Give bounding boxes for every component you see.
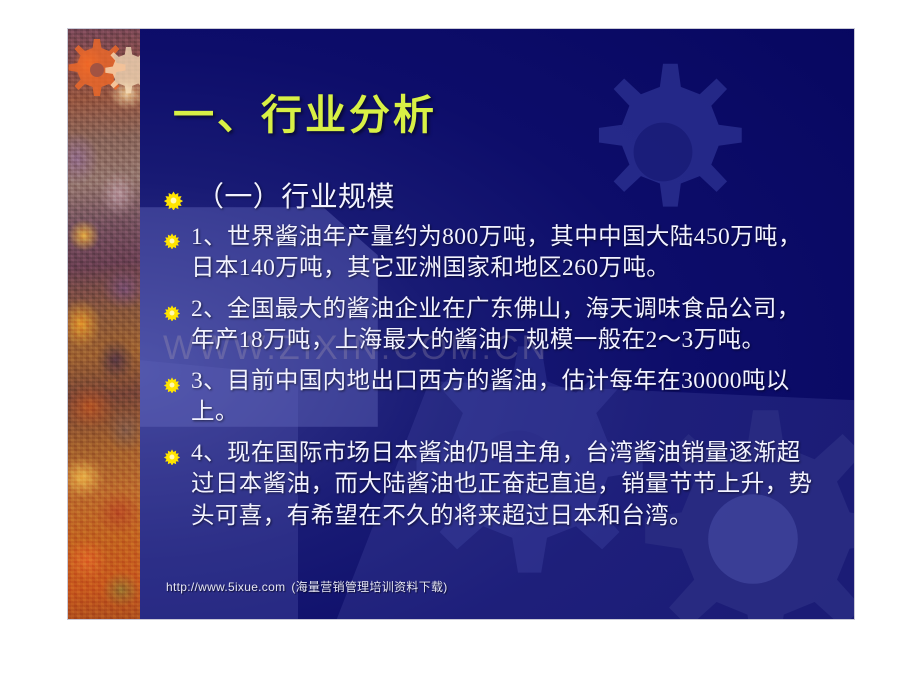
list-item: 1、世界酱油年产量约为800万吨，其中中国大陆450万吨，日本140万吨，其它亚… xyxy=(164,222,824,285)
footer: http://www.5ixue.com(海量营销管理培训资料下载) xyxy=(166,578,448,595)
list-item-text: 4、现在国际市场日本酱油仍唱主角，台湾酱油销量逐渐超过日本酱油，而大陆酱油也正奋… xyxy=(191,438,824,532)
list-item: 2、全国最大的酱油企业在广东佛山，海天调味食品公司，年产18万吨，上海最大的酱油… xyxy=(164,294,824,357)
list-item: （一）行业规模 xyxy=(164,181,824,216)
footer-url[interactable]: http://www.5ixue.com xyxy=(166,580,285,594)
star-bullet-icon xyxy=(164,305,180,321)
list-item-text: 2、全国最大的酱油企业在广东佛山，海天调味食品公司，年产18万吨，上海最大的酱油… xyxy=(191,294,824,357)
star-bullet-icon xyxy=(164,233,180,249)
list-item: 4、现在国际市场日本酱油仍唱主角，台湾酱油销量逐渐超过日本酱油，而大陆酱油也正奋… xyxy=(164,438,824,532)
footer-note: (海量营销管理培训资料下载) xyxy=(291,580,447,594)
slide-content: 一、行业分析 （一）行业规模 1、世界酱油年产 xyxy=(68,29,854,619)
page-title: 一、行业分析 xyxy=(173,93,437,138)
star-bullet-icon xyxy=(164,449,180,465)
star-bullet-icon xyxy=(164,377,180,393)
slide-canvas: WWW.ZIXIN.COM.CN 一、行业分析 xyxy=(67,28,855,620)
list-item-text: （一）行业规模 xyxy=(196,181,824,216)
list-item-text: 1、世界酱油年产量约为800万吨，其中中国大陆450万吨，日本140万吨，其它亚… xyxy=(191,222,824,285)
bullet-list: （一）行业规模 1、世界酱油年产量约为800万吨，其中中国大陆450万吨，日本1… xyxy=(164,181,824,541)
list-item-text: 3、目前中国内地出口西方的酱油，估计每年在30000吨以上。 xyxy=(191,366,824,429)
star-bullet-icon xyxy=(164,191,183,210)
list-item: 3、目前中国内地出口西方的酱油，估计每年在30000吨以上。 xyxy=(164,366,824,429)
